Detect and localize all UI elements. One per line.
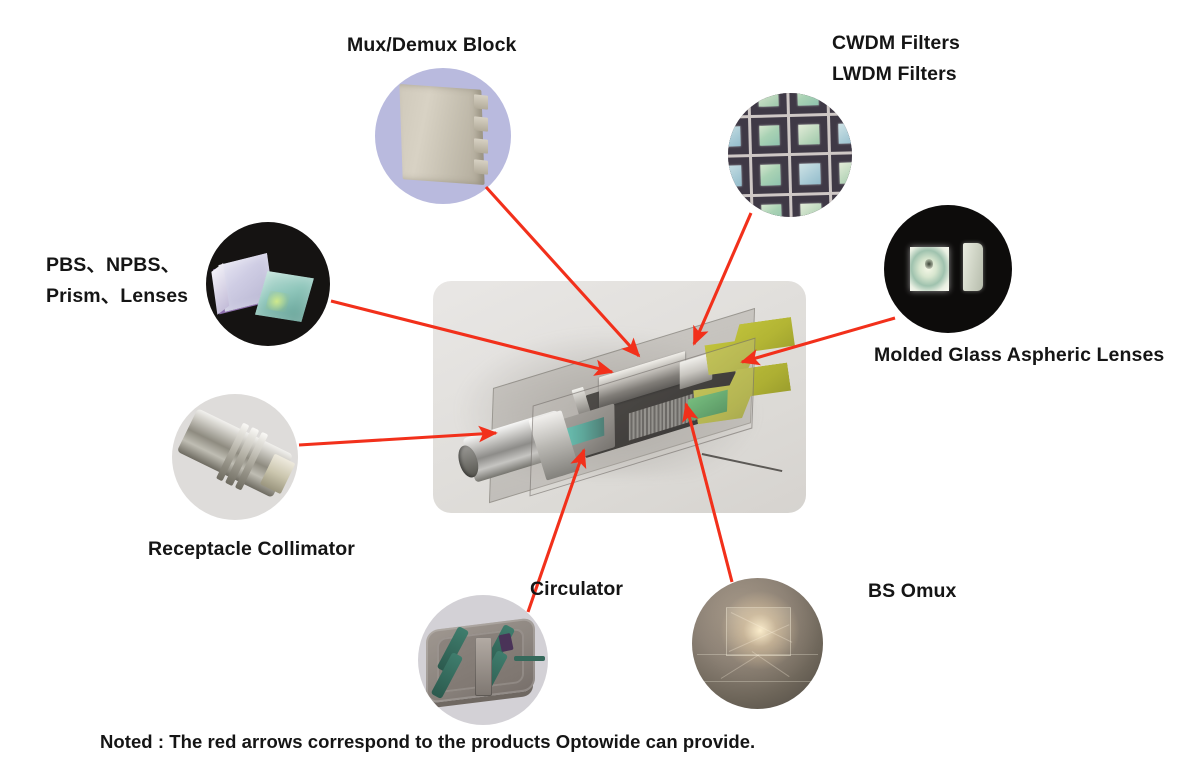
filter-chip [839,163,852,184]
mux-demux-block-body [399,84,484,185]
circulator-center-post [475,637,492,697]
filter-chip [800,164,821,185]
bubble-mux-demux-block [375,68,511,204]
label-circulator: Circulator [530,574,623,604]
filter-cell [789,93,826,114]
filter-chip [840,202,852,217]
bs-omux-base-line [697,681,818,682]
filter-chip [758,93,779,107]
bubble-molded-glass-lenses [884,205,1012,333]
bubble-pbs-npbs [206,222,330,346]
device-illustration [433,281,806,513]
filter-cell [728,197,751,217]
filter-chip [799,125,820,146]
filter-chip [798,93,819,106]
filter-cell [792,156,829,193]
filter-cell [750,93,787,115]
filter-cell [832,194,852,217]
filter-chip [760,126,781,147]
filter-cell [752,157,789,194]
bubble-bs-omux [692,578,823,709]
mux-demux-photo [375,68,511,204]
mux-tab-3 [474,138,488,153]
filter-cell [728,158,750,195]
prism-photo [206,222,330,346]
filter-cell [829,93,852,113]
circulator-render [418,595,548,725]
label-molded-glass-lenses: Molded Glass Aspheric Lenses [874,340,1164,370]
filter-cell [831,154,852,191]
label-mux-demux-block: Mux/Demux Block [347,30,516,60]
diagram-canvas: Mux/Demux Block CWDM Filters LWDM Filter… [0,0,1189,779]
label-bs-omux: BS Omux [868,576,956,606]
filter-cell [753,196,790,217]
filter-cell [793,195,830,217]
filter-chip [762,204,783,217]
bubble-cwdm-filters [728,93,852,217]
collimator-body [177,408,293,497]
filter-chip [837,93,852,105]
filter-chip [728,205,743,217]
mux-tab-4 [474,160,488,175]
circulator-fiber-pigtail [514,656,545,661]
bubble-circulator [418,595,548,725]
mux-tab-2 [474,116,488,131]
mux-tab-1 [474,94,488,109]
filter-chip [728,93,740,108]
bubble-receptacle-collimator [172,394,298,520]
filter-cell [728,118,749,155]
label-pbs-npbs-line1: PBS、NPBS、 [46,250,180,281]
filter-chip [801,203,822,217]
bs-omux-ray-4 [721,654,759,678]
label-cwdm-filters: CWDM Filters [832,28,960,59]
footnote-text: Noted : The red arrows correspond to the… [100,731,755,753]
filter-chip [728,166,742,187]
filter-array-photo [728,93,852,217]
label-receptacle-collimator: Receptacle Collimator [148,534,355,564]
filter-chip [838,123,852,144]
label-lwdm-filters: LWDM Filters [832,59,957,90]
collimator-ferrule [260,453,296,494]
filter-chip [761,165,782,186]
label-pbs-npbs-line2: Prism、Lenses [46,281,188,312]
aspheric-lens-photo [884,205,1012,333]
bs-omux-render [692,578,823,709]
filter-cell [791,116,828,153]
filter-cell [830,115,852,152]
filter-chip [728,127,741,148]
filter-cell [751,117,788,154]
aspheric-lens-front [910,247,950,291]
filter-cell [728,93,748,116]
aspheric-lens-side [963,243,982,290]
collimator-photo [172,394,298,520]
